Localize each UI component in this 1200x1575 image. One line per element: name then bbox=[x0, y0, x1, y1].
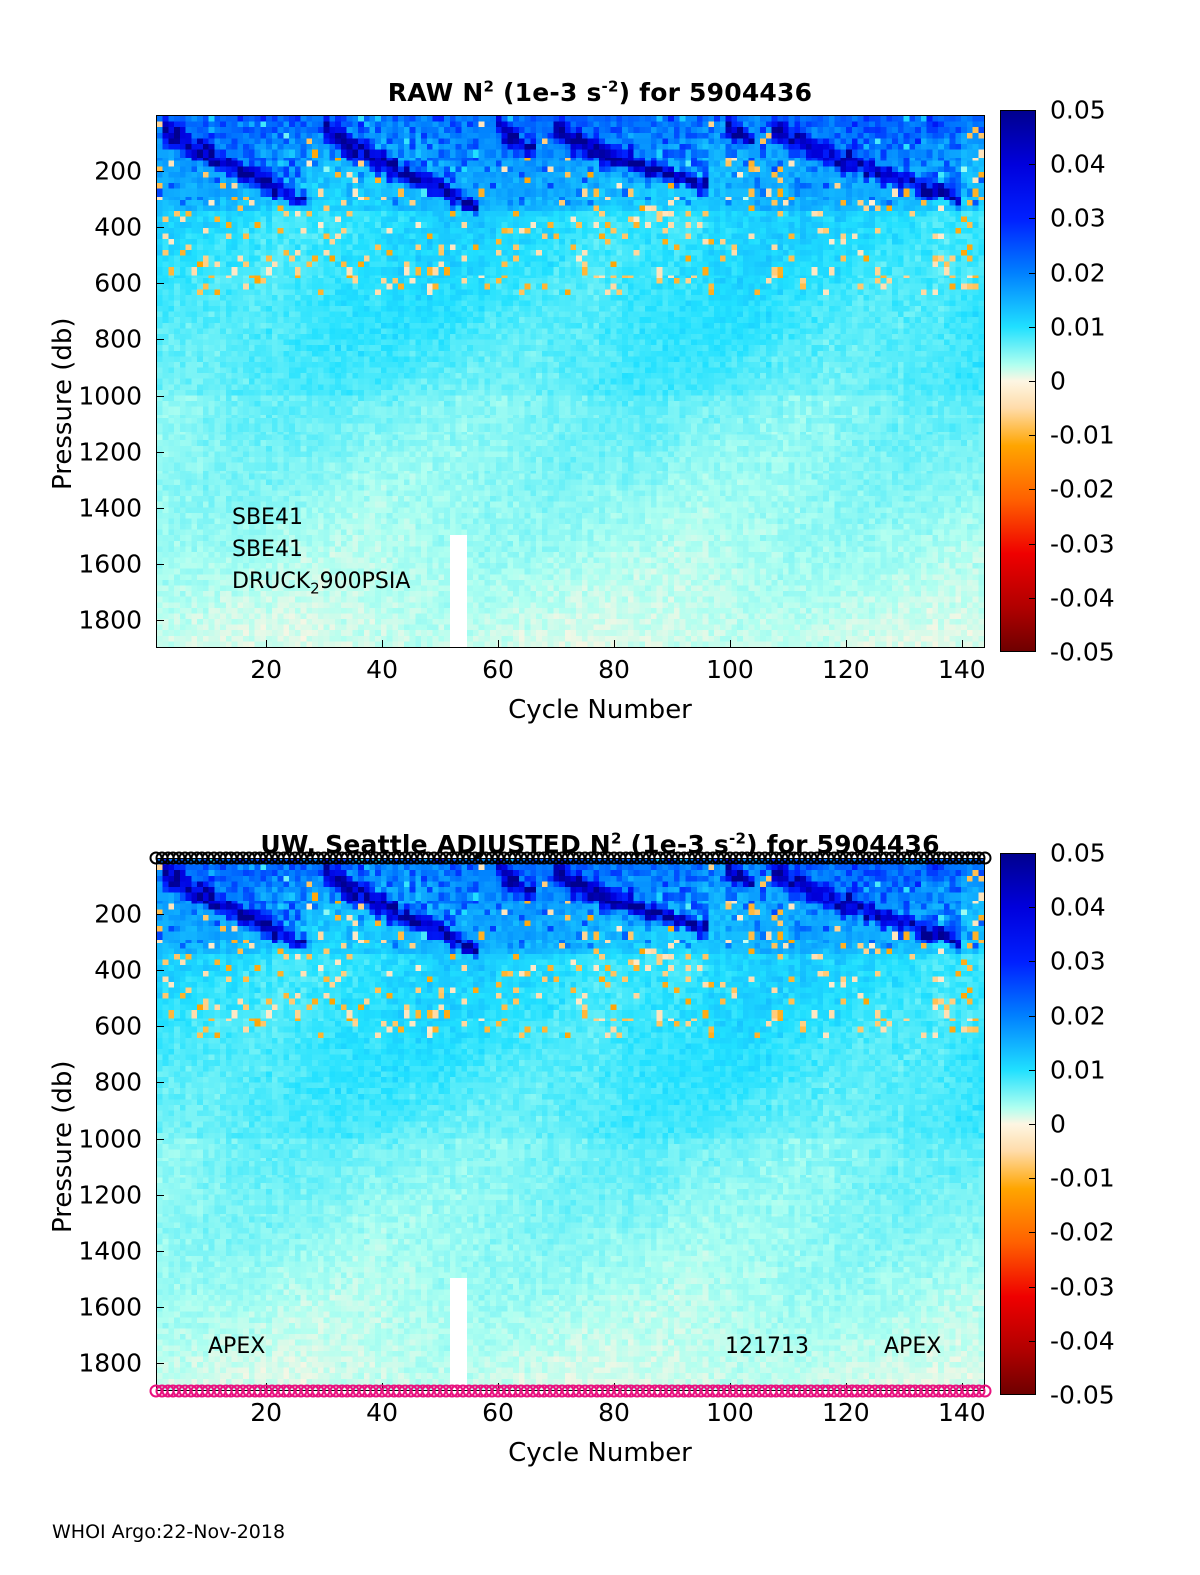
y-tick-mark-400 bbox=[156, 227, 164, 228]
colorbar-tick-label-5: 0 bbox=[1050, 367, 1066, 396]
profile-present-marker bbox=[979, 852, 992, 865]
x-tick-mark-40 bbox=[382, 640, 383, 648]
y-tick-label-200: 200 bbox=[0, 900, 142, 929]
y-tick-mark-400 bbox=[156, 970, 164, 971]
panel-raw: RAW N2 (1e-3 s-2) for 5904436 2004006008… bbox=[0, 0, 1200, 760]
x-tick-label-100: 100 bbox=[706, 1398, 754, 1427]
colorbar-tick-label-0: 0.05 bbox=[1050, 839, 1106, 868]
colorbar-tick-label-10: -0.05 bbox=[1050, 1381, 1115, 1410]
x-tick-mark-100 bbox=[730, 640, 731, 648]
y-tick-label-1400: 1400 bbox=[0, 1236, 142, 1265]
colorbar-tick-label-8: -0.03 bbox=[1050, 529, 1115, 558]
colorbar-tick-mark-4 bbox=[1029, 1070, 1036, 1071]
y-tick-label-1800: 1800 bbox=[0, 605, 142, 634]
colorbar-tick-mark-9 bbox=[1029, 598, 1036, 599]
panel-adjusted: UW, Seattle ADJUSTED N2 (1e-3 s-2) for 5… bbox=[0, 760, 1200, 1520]
colorbar-tick-mark-3 bbox=[1029, 273, 1036, 274]
y-tick-mark-200 bbox=[156, 914, 164, 915]
colorbar-tick-mark-8 bbox=[1029, 1287, 1036, 1288]
colorbar-tick-mark-3 bbox=[1029, 1016, 1036, 1017]
y-axis-title-raw: Pressure (db) bbox=[48, 317, 78, 490]
x-tick-label-140: 140 bbox=[938, 1398, 986, 1427]
pressure-sensor-sub: 2 bbox=[310, 579, 320, 597]
y-tick-mark-1600 bbox=[156, 1307, 164, 1308]
colorbar-tick-mark-5 bbox=[1029, 381, 1036, 382]
x-axis-title-adjusted: Cycle Number bbox=[0, 1438, 1200, 1468]
y-tick-mark-1400 bbox=[156, 508, 164, 509]
x-tick-label-40: 40 bbox=[366, 1398, 398, 1427]
colorbar-tick-mark-8 bbox=[1029, 544, 1036, 545]
panel-raw-title-exponent2: -2 bbox=[602, 78, 619, 96]
y-tick-mark-1800 bbox=[156, 620, 164, 621]
y-tick-label-1600: 1600 bbox=[0, 549, 142, 578]
x-tick-mark-120 bbox=[846, 640, 847, 648]
x-tick-label-140: 140 bbox=[938, 655, 986, 684]
annotation-float-type-right: APEX bbox=[884, 1334, 941, 1359]
x-tick-label-80: 80 bbox=[598, 1398, 630, 1427]
colorbar-tick-label-4: 0.01 bbox=[1050, 1055, 1106, 1084]
panel-raw-title-suffix: ) for 5904436 bbox=[619, 78, 813, 107]
x-tick-mark-80 bbox=[614, 640, 615, 648]
x-tick-mark-20 bbox=[266, 640, 267, 648]
y-tick-mark-1000 bbox=[156, 1139, 164, 1140]
panel-raw-title: RAW N2 (1e-3 s-2) for 5904436 bbox=[0, 78, 1200, 107]
colorbar-tick-label-1: 0.04 bbox=[1050, 893, 1106, 922]
colorbar-tick-mark-7 bbox=[1029, 489, 1036, 490]
colorbar-tick-label-7: -0.02 bbox=[1050, 1218, 1115, 1247]
colorbar-tick-label-2: 0.03 bbox=[1050, 947, 1106, 976]
colorbar-tick-label-7: -0.02 bbox=[1050, 475, 1115, 504]
colorbar-tick-mark-4 bbox=[1029, 327, 1036, 328]
colorbar-tick-label-6: -0.01 bbox=[1050, 421, 1115, 450]
colorbar-tick-label-6: -0.01 bbox=[1050, 1164, 1115, 1193]
x-tick-label-80: 80 bbox=[598, 655, 630, 684]
panel-raw-title-prefix: RAW N bbox=[388, 78, 484, 107]
annotation-float-serial: 121713 bbox=[725, 1334, 809, 1359]
colorbar-tick-label-3: 0.02 bbox=[1050, 1001, 1106, 1030]
colorbar-tick-label-3: 0.02 bbox=[1050, 258, 1106, 287]
y-tick-mark-800 bbox=[156, 339, 164, 340]
y-tick-mark-800 bbox=[156, 1082, 164, 1083]
x-tick-label-40: 40 bbox=[366, 655, 398, 684]
pressure-sensor-brand: DRUCK bbox=[232, 569, 310, 594]
colorbar-tick-label-1: 0.04 bbox=[1050, 150, 1106, 179]
y-tick-mark-1000 bbox=[156, 396, 164, 397]
x-tick-label-120: 120 bbox=[822, 1398, 870, 1427]
heatmap-axes-adjusted bbox=[156, 858, 985, 1391]
colorbar-tick-mark-7 bbox=[1029, 1232, 1036, 1233]
y-tick-label-1600: 1600 bbox=[0, 1292, 142, 1321]
x-tick-mark-60 bbox=[498, 640, 499, 648]
y-tick-label-1800: 1800 bbox=[0, 1348, 142, 1377]
colorbar-tick-mark-6 bbox=[1029, 1178, 1036, 1179]
y-tick-label-400: 400 bbox=[0, 213, 142, 242]
adjustment-applied-marker bbox=[979, 1385, 992, 1398]
panel-adjusted-title-exponent: 2 bbox=[611, 830, 622, 848]
colorbar-tick-label-0: 0.05 bbox=[1050, 96, 1106, 125]
colorbar-tick-mark-2 bbox=[1029, 961, 1036, 962]
y-tick-label-200: 200 bbox=[0, 157, 142, 186]
y-tick-label-600: 600 bbox=[0, 1012, 142, 1041]
y-tick-mark-1200 bbox=[156, 1195, 164, 1196]
colorbar-tick-mark-2 bbox=[1029, 218, 1036, 219]
colorbar-tick-mark-5 bbox=[1029, 1124, 1036, 1125]
y-tick-mark-1600 bbox=[156, 564, 164, 565]
y-tick-mark-1800 bbox=[156, 1363, 164, 1364]
annotation-float-type-left: APEX bbox=[208, 1334, 265, 1359]
annotation-pressure-sensor: DRUCK2900PSIA bbox=[232, 569, 410, 594]
colorbar-tick-mark-9 bbox=[1029, 1341, 1036, 1342]
footer-credit: WHOI Argo:22-Nov-2018 bbox=[52, 1521, 285, 1543]
colorbar-tick-label-2: 0.03 bbox=[1050, 204, 1106, 233]
x-tick-mark-140 bbox=[962, 640, 963, 648]
y-tick-mark-600 bbox=[156, 283, 164, 284]
y-tick-label-400: 400 bbox=[0, 956, 142, 985]
colorbar-tick-label-4: 0.01 bbox=[1050, 312, 1106, 341]
x-tick-label-20: 20 bbox=[250, 655, 282, 684]
x-tick-label-20: 20 bbox=[250, 1398, 282, 1427]
y-tick-label-600: 600 bbox=[0, 269, 142, 298]
y-axis-title-adjusted: Pressure (db) bbox=[48, 1060, 78, 1233]
panel-raw-title-exponent: 2 bbox=[483, 78, 494, 96]
y-tick-mark-1200 bbox=[156, 452, 164, 453]
y-tick-mark-1400 bbox=[156, 1251, 164, 1252]
colorbar-tick-mark-1 bbox=[1029, 164, 1036, 165]
colorbar-tick-label-5: 0 bbox=[1050, 1110, 1066, 1139]
colorbar-tick-label-8: -0.03 bbox=[1050, 1272, 1115, 1301]
annotation-sensor-model-1: SBE41 bbox=[232, 505, 303, 530]
panel-raw-title-mid: (1e-3 s bbox=[494, 78, 601, 107]
colorbar-tick-label-9: -0.04 bbox=[1050, 1326, 1115, 1355]
colorbar-tick-label-9: -0.04 bbox=[1050, 583, 1115, 612]
y-tick-mark-200 bbox=[156, 171, 164, 172]
panel-adjusted-title-exponent2: -2 bbox=[729, 830, 746, 848]
colorbar-tick-mark-1 bbox=[1029, 907, 1036, 908]
colorbar-tick-label-10: -0.05 bbox=[1050, 638, 1115, 667]
x-tick-label-60: 60 bbox=[482, 1398, 514, 1427]
y-tick-label-1400: 1400 bbox=[0, 493, 142, 522]
pressure-sensor-range: 900PSIA bbox=[320, 569, 411, 594]
annotation-sensor-model-2: SBE41 bbox=[232, 537, 303, 562]
x-tick-label-120: 120 bbox=[822, 655, 870, 684]
x-axis-title-raw: Cycle Number bbox=[0, 695, 1200, 725]
colorbar-tick-mark-6 bbox=[1029, 435, 1036, 436]
y-tick-mark-600 bbox=[156, 1026, 164, 1027]
x-tick-label-100: 100 bbox=[706, 655, 754, 684]
x-tick-label-60: 60 bbox=[482, 655, 514, 684]
